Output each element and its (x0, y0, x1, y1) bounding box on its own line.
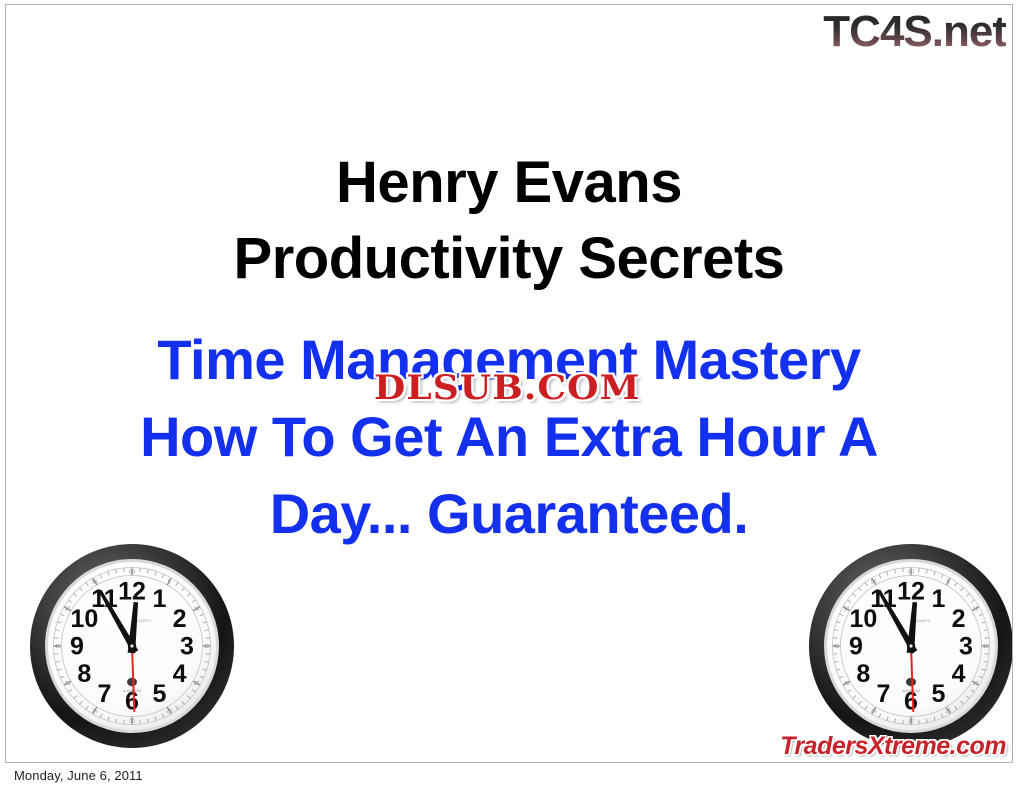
svg-text:4: 4 (952, 660, 966, 688)
svg-text:8: 8 (856, 660, 870, 688)
page-title-line-1: Henry Evans (6, 145, 1012, 221)
svg-text:5: 5 (153, 680, 167, 708)
svg-text:25: 25 (945, 708, 951, 714)
svg-text:30: 30 (129, 718, 135, 724)
svg-text:15: 15 (983, 644, 989, 650)
svg-text:1: 1 (932, 585, 946, 613)
svg-text:ALUMINIUM: ALUMINIUM (123, 689, 141, 693)
svg-text:10: 10 (973, 607, 979, 613)
svg-text:45: 45 (55, 644, 61, 650)
svg-text:2: 2 (173, 605, 187, 633)
page-subtitle-line-2: How To Get An Extra Hour A (36, 398, 982, 475)
svg-text:40: 40 (65, 681, 71, 687)
footer-date: Monday, June 6, 2011 (14, 768, 143, 783)
svg-text:3: 3 (959, 633, 973, 661)
brand-logo: TC4S.net (823, 7, 1006, 57)
wall-clock-right: 60510152025303540455055121234567891011QU… (807, 542, 1013, 750)
svg-text:30: 30 (908, 718, 914, 724)
svg-text:9: 9 (70, 633, 84, 661)
svg-text:5: 5 (932, 680, 946, 708)
svg-text:QUARTZ: QUARTZ (916, 619, 930, 623)
center-watermark: DLSUB.COM (374, 371, 641, 405)
svg-text:3: 3 (180, 633, 194, 661)
page-title: Henry Evans Productivity Secrets (6, 145, 1012, 297)
page-subtitle-line-3: Day... Guaranteed. (36, 475, 982, 552)
svg-text:8: 8 (77, 660, 91, 688)
svg-text:4: 4 (173, 660, 187, 688)
svg-text:60: 60 (908, 569, 914, 575)
clock-left-face: 60510152025303540455055121234567891011QU… (28, 542, 236, 750)
svg-text:7: 7 (877, 680, 891, 708)
svg-text:12: 12 (897, 578, 925, 606)
page-subtitle: Time Management Mastery How To Get An Ex… (36, 321, 982, 552)
svg-text:12: 12 (118, 578, 146, 606)
svg-text:10: 10 (194, 607, 200, 613)
svg-text:35: 35 (871, 708, 877, 714)
svg-text:15: 15 (204, 644, 210, 650)
slide-canvas: TC4S.net Henry Evans Productivity Secret… (5, 4, 1013, 763)
svg-text:2: 2 (952, 605, 966, 633)
svg-text:QUARTZ: QUARTZ (137, 619, 151, 623)
svg-text:60: 60 (129, 569, 135, 575)
svg-text:35: 35 (92, 708, 98, 714)
svg-text:20: 20 (194, 681, 200, 687)
svg-text:20: 20 (973, 681, 979, 687)
svg-text:1: 1 (153, 585, 167, 613)
svg-text:45: 45 (834, 644, 840, 650)
page-title-line-2: Productivity Secrets (6, 221, 1012, 297)
svg-text:25: 25 (166, 708, 172, 714)
svg-text:ALUMINIUM: ALUMINIUM (902, 689, 920, 693)
svg-text:40: 40 (844, 681, 850, 687)
corner-watermark: TradersXtreme.com (780, 732, 1006, 760)
svg-text:5: 5 (947, 579, 950, 585)
wall-clock-left: 60510152025303540455055121234567891011QU… (28, 542, 236, 750)
svg-text:7: 7 (98, 680, 112, 708)
svg-text:5: 5 (168, 579, 171, 585)
clock-right-face: 60510152025303540455055121234567891011QU… (807, 542, 1013, 750)
svg-text:9: 9 (849, 633, 863, 661)
